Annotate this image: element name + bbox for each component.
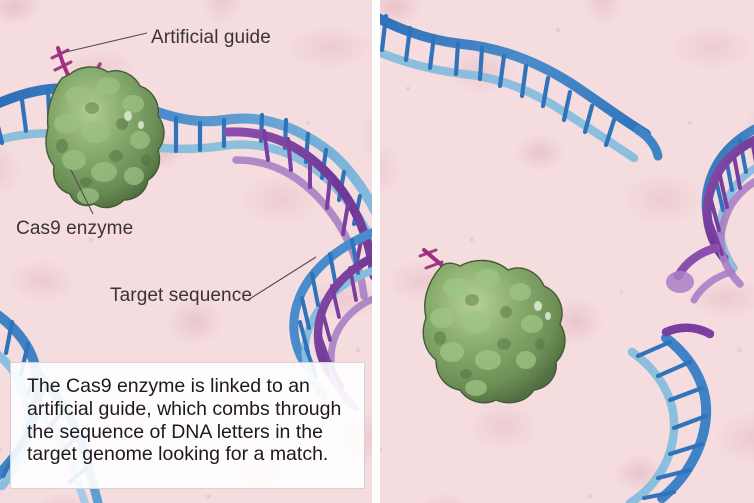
- callout-label-artificial-guide: Artificial guide: [151, 28, 271, 47]
- crispr-illustration: Artificial guide Cas9 enzyme Target sequ…: [0, 0, 754, 503]
- caption-box-left: The Cas9 enzyme is linked to an artifici…: [10, 362, 365, 489]
- leader-artificial-guide: [66, 33, 147, 52]
- panel-right-cutting: Once the matching target sequence is fou…: [380, 0, 754, 503]
- callout-label-cas9-enzyme: Cas9 enzyme: [16, 219, 133, 238]
- caption-text-left: The Cas9 enzyme is linked to an artifici…: [27, 375, 350, 466]
- leader-target-sequence: [248, 257, 316, 300]
- panel-left-searching: Artificial guide Cas9 enzyme Target sequ…: [0, 0, 372, 503]
- leader-cas9-enzyme: [71, 170, 93, 214]
- artwork-right: [380, 0, 754, 503]
- callout-label-target-sequence: Target sequence: [110, 286, 252, 305]
